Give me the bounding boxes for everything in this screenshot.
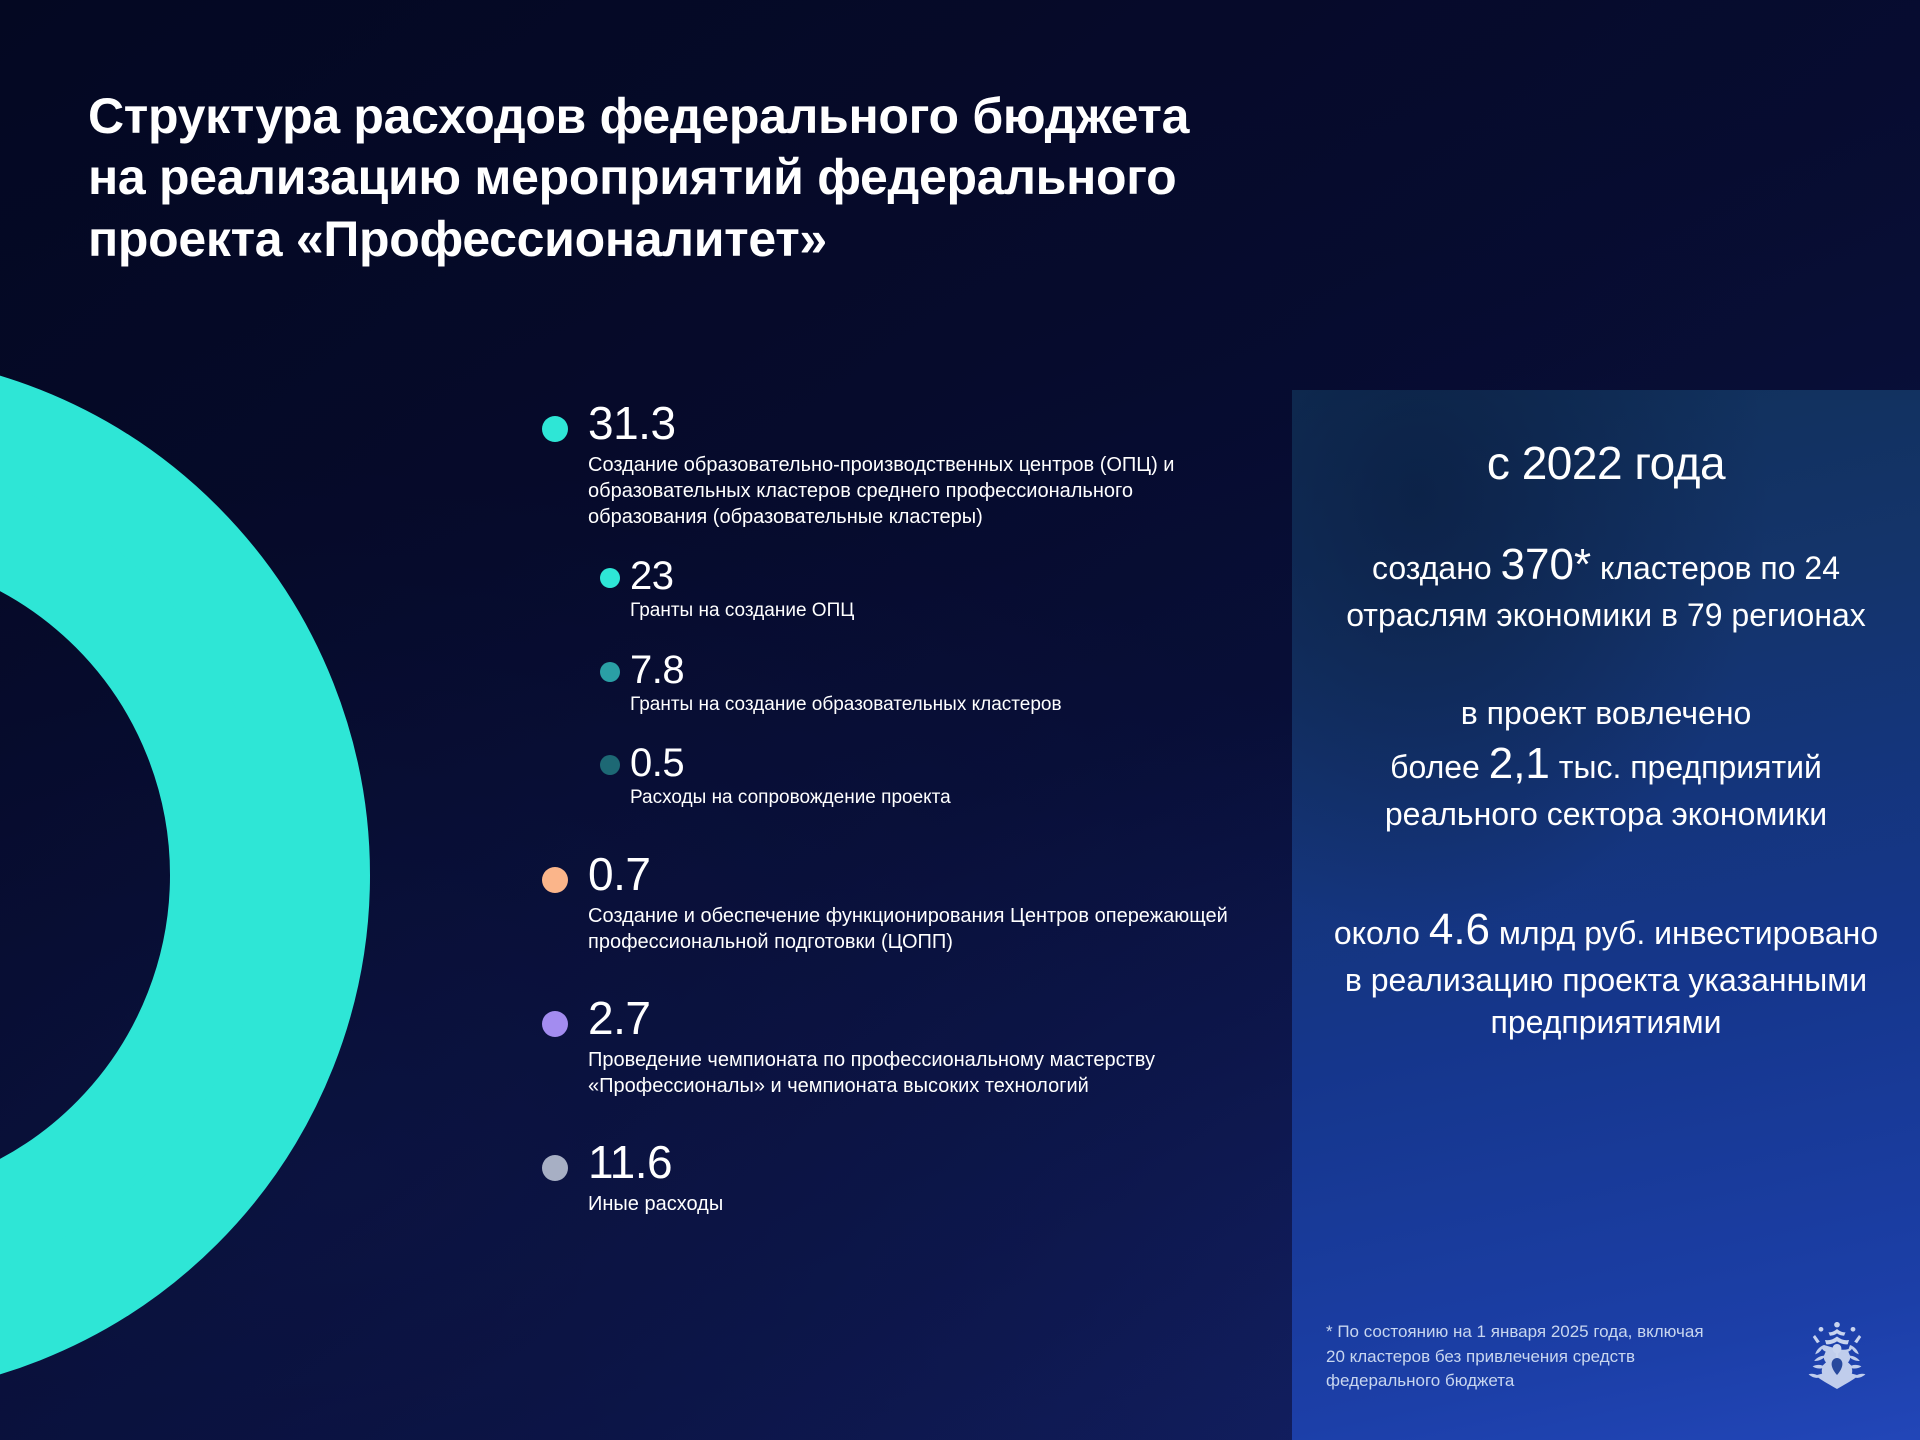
panel-footnote: * По состоянию на 1 января 2025 года, вк… bbox=[1326, 1320, 1726, 1394]
legend-dot-icon bbox=[600, 662, 620, 682]
legend-dot-icon bbox=[600, 755, 620, 775]
legend-item-23[interactable]: 23 Гранты на создание ОПЦ bbox=[630, 556, 1228, 624]
legend-description: Проведение чемпионата по профессионально… bbox=[588, 1047, 1228, 1099]
legend-item-0-5[interactable]: 0.5 Расходы на сопровождение проекта bbox=[630, 743, 1228, 811]
donut-chart-svg bbox=[0, 310, 618, 1440]
page-title: Структура расходов федерального бюджета … bbox=[88, 86, 1268, 271]
legend-item-11-6[interactable]: 11.6 Иные расходы bbox=[588, 1139, 1228, 1217]
legend-value: 31.3 bbox=[588, 400, 1228, 446]
legend-description: Гранты на создание ОПЦ bbox=[630, 599, 1228, 624]
legend-value: 23 bbox=[630, 556, 1228, 596]
legend-value: 11.6 bbox=[588, 1139, 1228, 1185]
legend-item-7-8[interactable]: 7.8 Гранты на создание образовательных к… bbox=[630, 650, 1228, 718]
stat-prefix: более bbox=[1390, 749, 1489, 785]
title-line-2: на реализацию мероприятий федерального bbox=[88, 147, 1268, 209]
stat-prefix: создано bbox=[1372, 550, 1501, 586]
legend-value: 0.5 bbox=[630, 743, 1228, 783]
stat-highlight: 4.6 bbox=[1429, 905, 1490, 954]
stat-highlight: 370* bbox=[1501, 540, 1592, 589]
stat-prefix: около bbox=[1334, 915, 1429, 951]
legend-value: 0.7 bbox=[588, 851, 1228, 897]
legend-description: Создание образовательно-производственных… bbox=[588, 452, 1228, 530]
legend-description: Создание и обеспечение функционирования … bbox=[588, 903, 1228, 955]
legend-dot-icon bbox=[542, 416, 568, 442]
legend-description: Иные расходы bbox=[588, 1191, 1228, 1217]
title-line-3: проекта «Профессионалитет» bbox=[88, 209, 1268, 271]
panel-heading: с 2022 года bbox=[1326, 436, 1886, 490]
legend-description: Гранты на создание образовательных класт… bbox=[630, 693, 1228, 718]
statistics-panel: с 2022 года создано 370* кластеров по 24… bbox=[1292, 390, 1920, 1440]
legend-dot-icon bbox=[542, 1155, 568, 1181]
donut-chart: 46.3 млрд руб. bbox=[0, 310, 618, 1440]
title-line-1: Структура расходов федерального бюджета bbox=[88, 86, 1268, 148]
legend-dot-icon bbox=[542, 867, 568, 893]
stat-enterprises: в проект вовлечено более 2,1 тыс. предпр… bbox=[1326, 692, 1886, 835]
stat-investment: около 4.6 млрд руб. инвестировано в реал… bbox=[1326, 901, 1886, 1044]
legend-value: 7.8 bbox=[630, 650, 1228, 690]
legend-dot-icon bbox=[600, 568, 620, 588]
stat-lead: в проект вовлечено bbox=[1326, 692, 1886, 734]
legend-item-0-7[interactable]: 0.7 Создание и обеспечение функционирова… bbox=[588, 851, 1228, 955]
stat-clusters: создано 370* кластеров по 24 отраслям эк… bbox=[1326, 536, 1886, 636]
chart-legend: 31.3 Создание образовательно-производств… bbox=[588, 400, 1228, 1243]
legend-item-2-7[interactable]: 2.7 Проведение чемпионата по профессиона… bbox=[588, 995, 1228, 1099]
legend-item-31-3[interactable]: 31.3 Создание образовательно-производств… bbox=[588, 400, 1228, 530]
legend-description: Расходы на сопровождение проекта bbox=[630, 786, 1228, 811]
stat-highlight: 2,1 bbox=[1489, 739, 1550, 788]
legend-value: 2.7 bbox=[588, 995, 1228, 1041]
russian-coat-of-arms-icon bbox=[1804, 1318, 1870, 1392]
legend-dot-icon bbox=[542, 1011, 568, 1037]
